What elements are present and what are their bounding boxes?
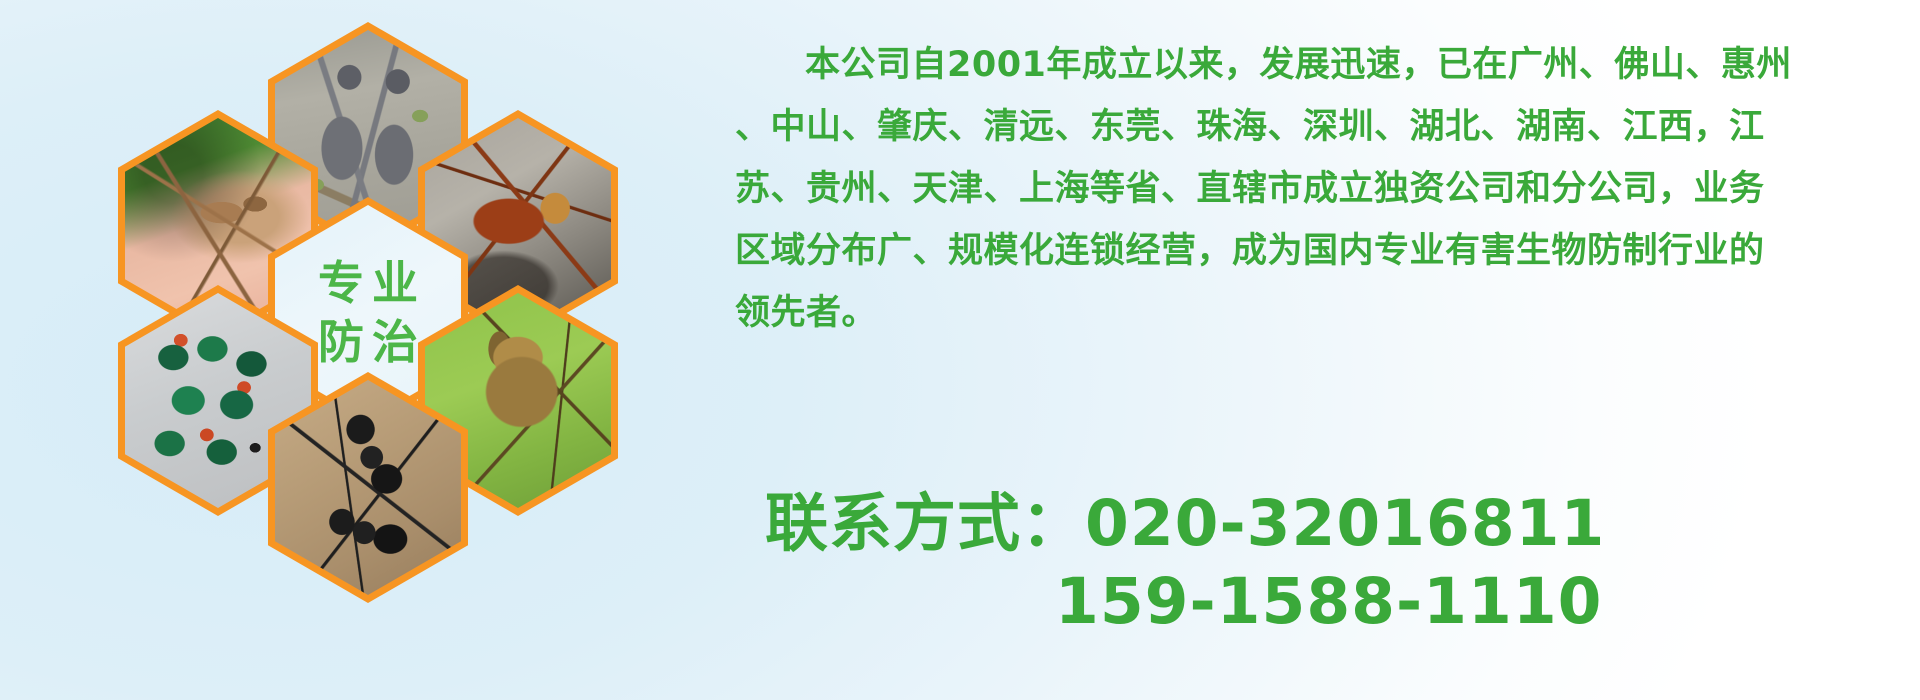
contact-primary-phone[interactable]: 联系方式：020-32016811 <box>765 485 1865 563</box>
intro-line-5: 领先者。 <box>735 282 1797 344</box>
contact-secondary-phone[interactable]: 159-1588-1110 <box>765 563 1865 641</box>
intro-line-4: 区域分布广、规模化连锁经营，成为国内专业有害生物防制行业的 <box>735 220 1797 282</box>
content-column: 本公司自2001年成立以来，发展迅速，已在广州、佛山、惠州 、中山、肇庆、清远、… <box>735 0 1905 700</box>
logo-text-line-2: 防治 <box>310 318 426 366</box>
hex-inner-ants <box>275 380 461 595</box>
intro-line-1: 本公司自2001年成立以来，发展迅速，已在广州、佛山、惠州 <box>735 34 1797 96</box>
ants-photo <box>275 380 461 595</box>
company-intro-paragraph: 本公司自2001年成立以来，发展迅速，已在广州、佛山、惠州 、中山、肇庆、清远、… <box>735 34 1797 344</box>
contact-block: 联系方式：020-32016811 159-1588-1110 <box>765 485 1865 641</box>
pest-control-banner: 专业 防治 本公司自2001年成立以来，发展迅速，已在广州、佛山、惠州 、中 <box>0 0 1920 700</box>
logo-text-line-1: 专业 <box>310 259 426 307</box>
intro-line-2: 、中山、肇庆、清远、东莞、珠海、深圳、湖北、湖南、江西，江 <box>735 96 1797 158</box>
honeycomb-gallery: 专业 防治 <box>100 0 660 700</box>
intro-line-3: 苏、贵州、天津、上海等省、直辖市成立独资公司和分公司，业务 <box>735 158 1797 220</box>
